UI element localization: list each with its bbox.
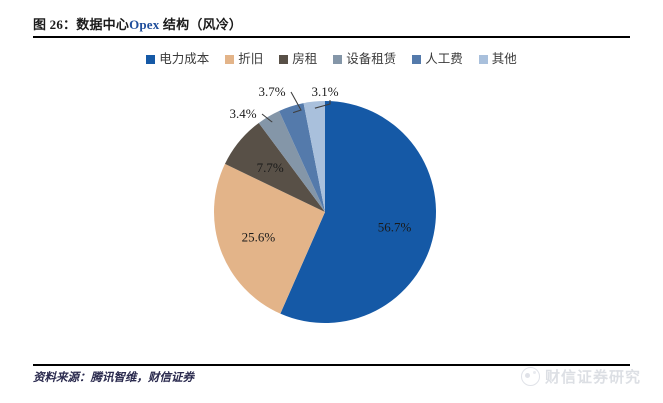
pie-value-label-labor: 3.7%: [258, 84, 285, 99]
panda-circle-logo-icon: [521, 367, 540, 386]
page-title: 图 26：数据中心Opex 结构（风冷）: [33, 14, 242, 33]
legend-label-labor: 人工费: [425, 53, 463, 66]
pie-slice-group: [214, 101, 436, 323]
pie-value-label-depreciation: 25.6%: [242, 230, 276, 245]
title-suffix: 结构（风冷）: [159, 17, 242, 32]
legend-swatch-icon-power: [146, 55, 155, 64]
legend-swatch-icon-depreciation: [225, 55, 234, 64]
source-note: 资料来源：腾讯智维，财信证券: [33, 369, 194, 385]
title-accent: Opex: [129, 17, 159, 32]
legend-item-other[interactable]: 其他: [479, 53, 517, 66]
legend-label-power: 电力成本: [159, 53, 209, 66]
pie-chart-svg: 56.7%25.6%7.7%3.4%3.7%3.1%: [0, 72, 663, 344]
legend-label-equipment-lease: 设备租赁: [346, 53, 396, 66]
pie-value-label-power: 56.7%: [378, 220, 412, 235]
title-prefix: 图 26：数据中心: [33, 17, 129, 32]
pie-value-label-other: 3.1%: [311, 84, 338, 99]
footer-divider: [33, 364, 630, 366]
legend-label-depreciation: 折旧: [238, 53, 263, 66]
legend-item-rent[interactable]: 房租: [279, 53, 317, 66]
legend-item-labor[interactable]: 人工费: [412, 53, 463, 66]
legend-swatch-icon-equipment-lease: [333, 55, 342, 64]
legend-item-power[interactable]: 电力成本: [146, 53, 209, 66]
figure-container: 图 26：数据中心Opex 结构（风冷） 电力成本 折旧 房租 设备租赁 人工费…: [0, 0, 663, 403]
watermark: 财信证券研究: [521, 366, 641, 387]
pie-chart-plot-area: 56.7%25.6%7.7%3.4%3.7%3.1%: [0, 72, 663, 344]
legend-swatch-icon-other: [479, 55, 488, 64]
legend-label-rent: 房租: [292, 53, 317, 66]
legend-swatch-icon-rent: [279, 55, 288, 64]
legend-item-equipment-lease[interactable]: 设备租赁: [333, 53, 396, 66]
legend-swatch-icon-labor: [412, 55, 421, 64]
pie-value-label-equipment-lease: 3.4%: [229, 106, 256, 121]
pie-value-label-rent: 7.7%: [257, 160, 284, 175]
legend-label-other: 其他: [492, 53, 517, 66]
title-divider: [33, 36, 630, 38]
chart-legend: 电力成本 折旧 房租 设备租赁 人工费 其他: [33, 48, 630, 70]
figure-title-row: 图 26：数据中心Opex 结构（风冷）: [33, 11, 630, 35]
legend-item-depreciation[interactable]: 折旧: [225, 53, 263, 66]
watermark-label: 财信证券研究: [545, 366, 641, 387]
